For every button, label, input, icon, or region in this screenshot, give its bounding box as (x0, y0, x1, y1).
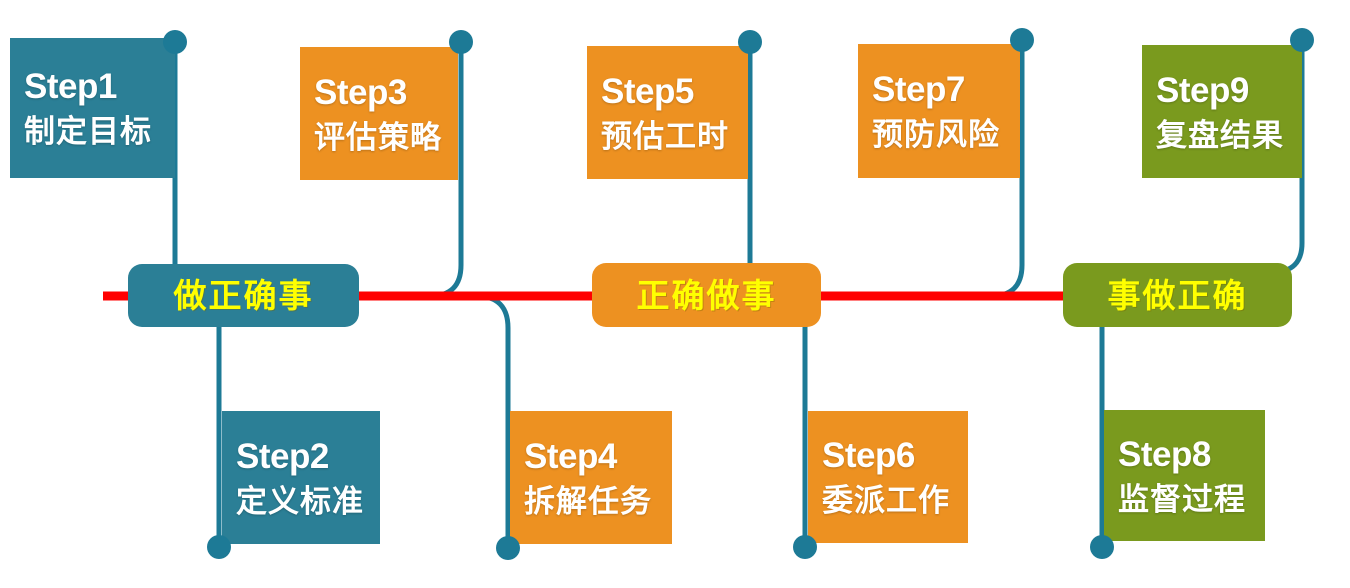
step-card-step8[interactable]: Step8监督过程 (1104, 410, 1265, 541)
milestone-label: 事做正确 (1108, 279, 1248, 312)
endpoint-dot-step2 (207, 535, 231, 559)
endpoint-dot-step9 (1290, 28, 1314, 52)
endpoint-dot-step6 (793, 535, 817, 559)
step-number-label: Step9 (1156, 73, 1302, 108)
step-title-label: 委派工作 (822, 485, 968, 516)
milestone-pill-m3[interactable]: 事做正确 (1063, 263, 1292, 327)
step-number-label: Step7 (872, 72, 1020, 107)
endpoint-dot-step1 (163, 30, 187, 54)
step-card-step5[interactable]: Step5预估工时 (587, 46, 748, 179)
step-card-step4[interactable]: Step4拆解任务 (510, 411, 672, 544)
endpoint-dot-step4 (496, 536, 520, 560)
connector-c4 (462, 296, 508, 548)
step-title-label: 预估工时 (601, 121, 748, 152)
step-number-label: Step4 (524, 439, 672, 474)
step-number-label: Step8 (1118, 437, 1265, 472)
step-card-step7[interactable]: Step7预防风险 (858, 44, 1020, 178)
milestone-pill-m2[interactable]: 正确做事 (592, 263, 821, 327)
step-title-label: 评估策略 (314, 122, 458, 153)
step-card-step6[interactable]: Step6委派工作 (808, 411, 968, 543)
step-title-label: 拆解任务 (524, 486, 672, 517)
endpoint-dot-step8 (1090, 535, 1114, 559)
step-title-label: 定义标准 (236, 486, 380, 517)
step-number-label: Step1 (24, 69, 175, 104)
step-card-step3[interactable]: Step3评估策略 (300, 47, 458, 180)
step-card-step2[interactable]: Step2定义标准 (222, 411, 380, 544)
step-number-label: Step2 (236, 439, 380, 474)
endpoint-dot-step3 (449, 30, 473, 54)
milestone-pill-m1[interactable]: 做正确事 (128, 264, 359, 327)
step-title-label: 预防风险 (872, 119, 1020, 150)
milestone-label: 正确做事 (637, 279, 777, 312)
step-number-label: Step3 (314, 75, 458, 110)
step-title-label: 复盘结果 (1156, 120, 1302, 151)
step-number-label: Step6 (822, 438, 968, 473)
step-title-label: 制定目标 (24, 116, 175, 147)
diagram-canvas: Step1制定目标Step2定义标准Step3评估策略Step4拆解任务Step… (0, 0, 1350, 588)
step-card-step9[interactable]: Step9复盘结果 (1142, 45, 1302, 178)
step-title-label: 监督过程 (1118, 484, 1265, 515)
step-card-step1[interactable]: Step1制定目标 (10, 38, 175, 178)
step-number-label: Step5 (601, 74, 748, 109)
endpoint-dot-step7 (1010, 28, 1034, 52)
endpoint-dot-step5 (738, 30, 762, 54)
milestone-label: 做正确事 (174, 279, 314, 312)
